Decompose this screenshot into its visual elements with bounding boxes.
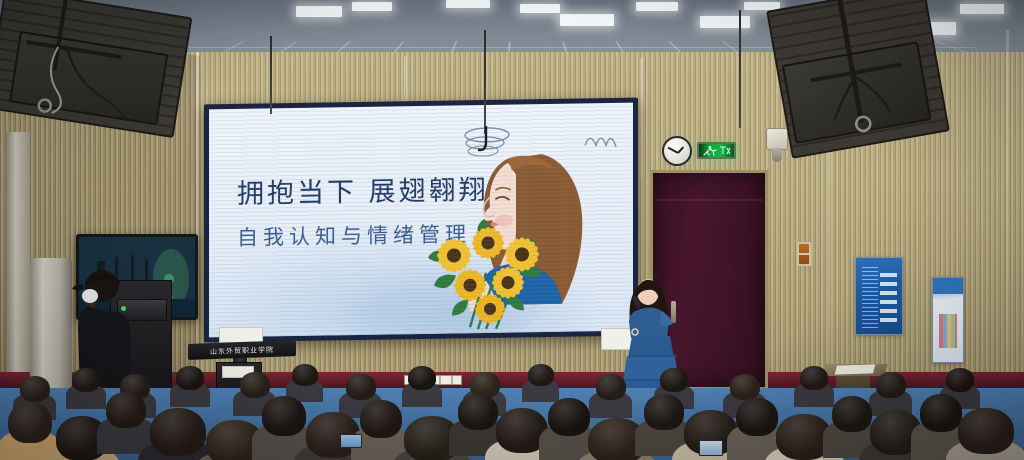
ceiling-light-panel [352,2,392,11]
audience-head [596,374,626,400]
audience-member [946,368,974,396]
audience-head [106,392,146,428]
audience-member [548,398,590,442]
audience-head [408,366,436,390]
ceiling-tv-right [766,0,950,159]
audience [0,350,1024,460]
audience-member [528,364,554,390]
led-presentation-screen[interactable]: 拥抱当下 展翅翱翔 自我认知与情绪管理 [204,98,638,343]
slide-doodles [209,103,633,338]
audience-member [8,402,52,450]
wall-seam [1006,30,1009,380]
audience-member [800,366,828,394]
audience-head [548,398,590,436]
audience-head [876,372,906,398]
tv-cables [766,0,950,159]
poster-text-lines [862,264,878,328]
hanger-hook-icon [478,126,496,152]
audience-head [832,396,872,432]
ceiling-hanger-rod [270,36,272,114]
audience-member [876,372,906,402]
audience-member [958,408,1014,460]
audience-member [832,396,872,438]
ceiling-light-panel [960,4,1004,14]
audience-head [360,400,402,438]
clock-minute-hand [668,147,678,154]
audience-member [150,408,206,460]
ceiling-light-panel [700,16,750,28]
audience-member [262,396,306,442]
audience-device-screen [340,434,362,448]
exit-sign-face [699,144,734,157]
audience-head [20,376,50,402]
audience-member [72,368,100,396]
pa-speaker-mount [772,148,782,162]
poster-header-band [933,278,963,294]
wall-vent-divider [797,253,811,255]
audience-member [736,398,778,442]
audience-member [176,366,204,394]
audience-head [458,394,498,430]
audience-head [346,374,376,400]
clock-hour-hand [677,146,684,153]
audience-member [292,364,318,390]
audience-head [72,368,100,392]
audience-head [292,364,318,386]
audience-head [730,374,760,400]
audience-member [920,394,962,438]
ceiling-hanger-rod [484,30,486,134]
audience-head [8,402,52,443]
ceiling-light-panel [296,6,342,17]
lecture-hall-photo: 拥抱当下 展翅翱翔 自我认知与情绪管理 [0,0,1024,460]
audience-head [736,398,778,436]
audience-device-screen [699,440,723,456]
audience-head [958,408,1014,454]
audience-head [240,372,270,398]
poster-blue-notice[interactable] [855,257,903,335]
wall-seam [196,52,199,392]
slide-surface: 拥抱当下 展翅翱翔 自我认知与情绪管理 [209,103,633,338]
audience-head [660,368,688,392]
audience-member [360,400,402,444]
audience-head [800,366,828,390]
ceiling-light-panel [446,0,490,8]
pa-speaker [766,128,788,150]
audience-member [106,392,146,434]
audience-head [528,364,554,386]
audience-head [920,394,962,432]
door-top-seam [655,199,763,201]
audience-head [150,408,206,456]
audience-member [596,374,626,404]
wall-seam [640,58,643,178]
audience-head [946,368,974,392]
audience-head [644,394,684,430]
audience-member [408,366,436,394]
audience-head [262,396,306,436]
audience-head [176,366,204,390]
wall-clock [662,136,692,166]
ceiling-light-panel [520,4,560,13]
ceiling-light-panel [636,2,678,11]
audience-member [458,394,498,436]
audience-member [644,394,684,436]
ceiling-light-panel [560,14,614,26]
ceiling-hanger-rod [739,10,741,128]
poster-color-swatches [939,314,957,348]
poster-heading-block [880,272,897,322]
running-man-icon [702,145,732,156]
audience-member [660,368,688,396]
exit-sign [697,142,736,159]
